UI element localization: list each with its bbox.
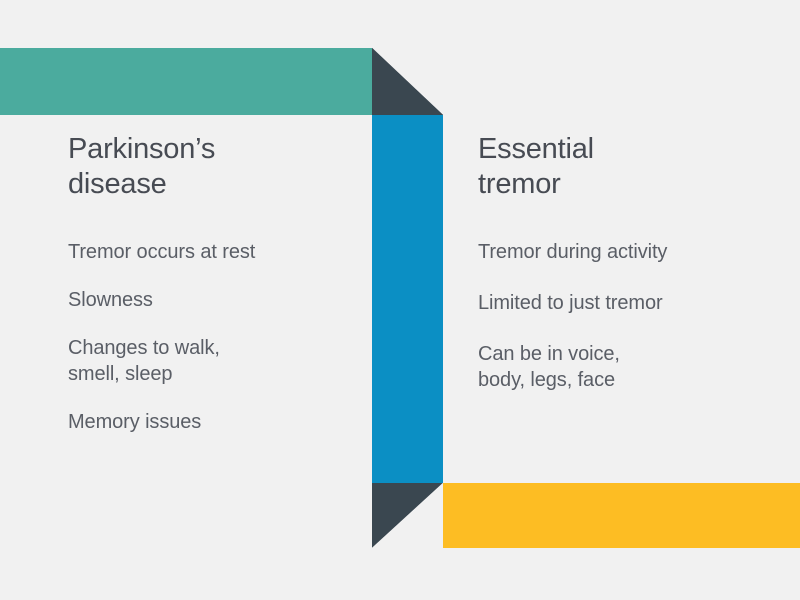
column-heading-essential-tremor: Essential tremor (478, 132, 778, 203)
list-item: Slowness (68, 287, 360, 313)
symptom-list-essential-tremor: Tremor during activity Limited to just t… (478, 239, 778, 393)
list-item: Tremor occurs at rest (68, 239, 360, 265)
column-parkinsons-disease: Parkinson’s disease Tremor occurs at res… (68, 132, 360, 435)
column-heading-parkinsons: Parkinson’s disease (68, 132, 360, 203)
list-item: Memory issues (68, 409, 360, 435)
list-item: Can be in voice, body, legs, face (478, 341, 778, 393)
symptom-list-parkinsons: Tremor occurs at rest Slowness Changes t… (68, 239, 360, 435)
list-item: Changes to walk, smell, sleep (68, 335, 360, 387)
list-item: Tremor during activity (478, 239, 778, 265)
list-item: Limited to just tremor (478, 290, 778, 316)
comparison-slide: Parkinson’s disease Tremor occurs at res… (0, 0, 800, 600)
comparison-columns: Parkinson’s disease Tremor occurs at res… (0, 0, 800, 600)
column-essential-tremor: Essential tremor Tremor during activity … (478, 132, 778, 418)
